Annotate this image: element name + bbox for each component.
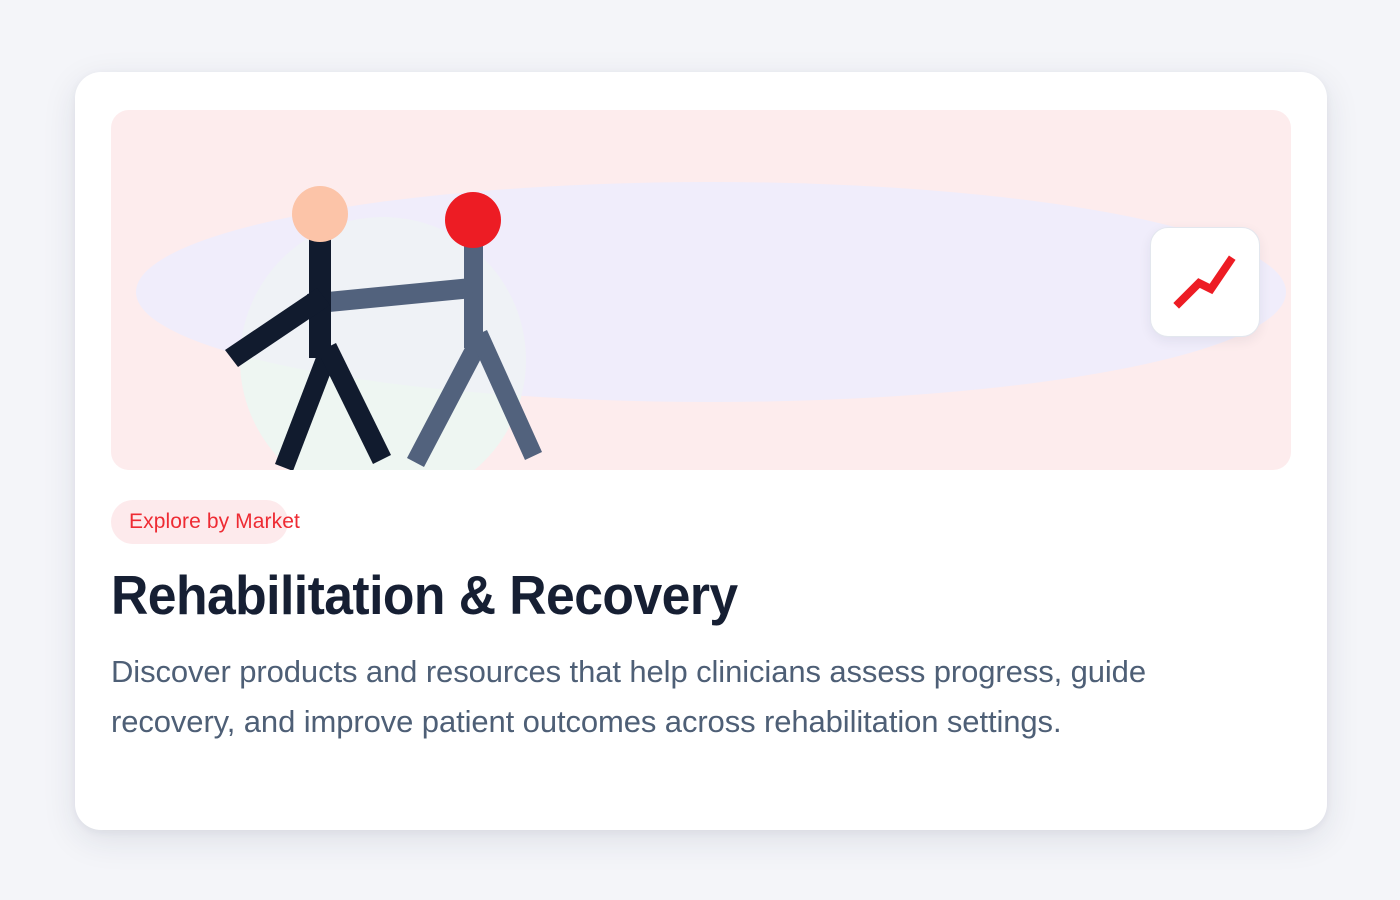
market-category-card[interactable]: Explore by Market Rehabilitation & Recov… [75, 72, 1327, 830]
hero-illustration [111, 110, 1291, 470]
trending-chart-chip[interactable] [1150, 227, 1260, 337]
hero-illustration-svg [111, 110, 1291, 470]
status-badge[interactable]: Explore by Market [111, 500, 288, 544]
card-content: Explore by Market Rehabilitation & Recov… [111, 500, 1291, 747]
trending-up-chart-icon [1173, 253, 1237, 311]
figure-right-head [445, 192, 501, 248]
page-title: Rehabilitation & Recovery [111, 567, 1220, 625]
figure-left-head [292, 186, 348, 242]
card-description: Discover products and resources that hel… [111, 647, 1271, 747]
